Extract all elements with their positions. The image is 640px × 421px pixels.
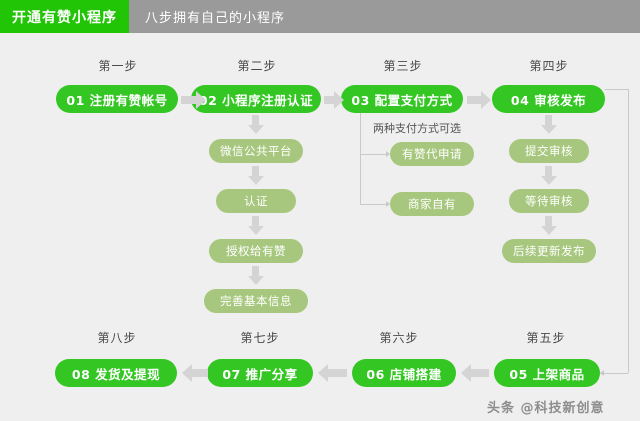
step-node-6[interactable]: 06 店铺搭建 [352,359,456,387]
step-label-1: 第一步 [58,57,178,74]
step-node-7[interactable]: 07 推广分享 [207,359,313,387]
wrap-line-right [628,89,629,373]
branch-trunk-line [360,113,361,205]
step4-substep-1[interactable]: 提交审核 [509,139,589,163]
payment-option-2[interactable]: 商家自有 [390,192,474,216]
step4-substep-2[interactable]: 等待审核 [509,189,589,213]
step-node-3[interactable]: 03 配置支付方式 [341,85,463,113]
step-label-8: 第八步 [57,329,177,346]
branch-line-to-option1 [360,154,388,155]
wrap-line-top [605,89,629,90]
header-bar: 开通有赞小程序 八步拥有自己的小程序 [0,0,640,33]
step-label-3: 第三步 [343,57,463,74]
step2-substep-2[interactable]: 认证 [216,189,296,213]
step-label-4: 第四步 [490,57,608,74]
branch-line-to-option2 [360,204,388,205]
step-node-5[interactable]: 05 上架商品 [494,359,600,387]
step2-substep-4[interactable]: 完善基本信息 [204,289,308,313]
payment-branch-caption: 两种支付方式可选 [373,120,461,136]
watermark-text: 头条 @科技新创意 [487,397,605,416]
step-label-7: 第七步 [200,329,320,346]
step-node-8[interactable]: 08 发货及提现 [55,359,177,387]
step-label-6: 第六步 [343,329,455,346]
step-label-5: 第五步 [487,329,605,346]
header-brand-title: 开通有赞小程序 [0,0,129,33]
step-node-1[interactable]: 01 注册有赞帐号 [56,85,178,113]
step-label-2: 第二步 [193,57,321,74]
step4-substep-3[interactable]: 后续更新发布 [502,239,596,263]
wrap-line-bottom [600,373,628,374]
step2-substep-3[interactable]: 授权给有赞 [209,239,303,263]
wrap-tick-arrow [600,370,604,376]
flowchart-canvas: 第一步 第二步 第三步 第四步 01 注册有赞帐号 02 小程序注册认证 03 … [0,33,640,421]
payment-option-1[interactable]: 有赞代申请 [390,142,474,166]
step-node-2[interactable]: 02 小程序注册认证 [191,85,321,113]
header-subtitle: 八步拥有自己的小程序 [129,0,285,33]
step-node-4[interactable]: 04 审核发布 [492,85,605,113]
step2-substep-1[interactable]: 微信公共平台 [209,139,303,163]
